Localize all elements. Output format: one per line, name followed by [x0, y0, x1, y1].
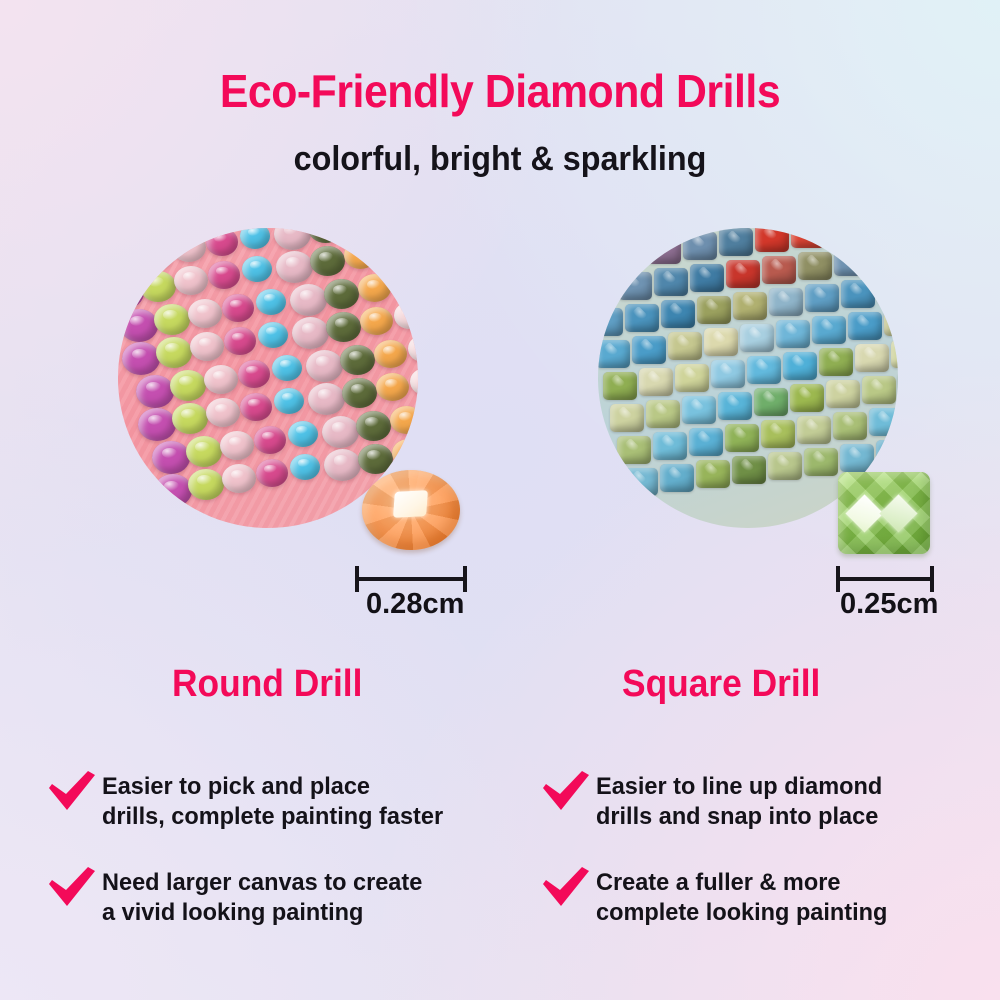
drill-bead — [174, 266, 208, 295]
drill-bead — [340, 345, 375, 375]
drill-bead — [240, 393, 272, 421]
benefit-item: Easier to line up diamonddrills and snap… — [540, 768, 1000, 840]
drill-bead — [292, 317, 329, 349]
ruler-cap-left — [355, 566, 359, 592]
benefit-text: Easier to pick and placedrills, complete… — [102, 768, 443, 832]
round-drill-benefits: Easier to pick and placedrills, complete… — [46, 768, 516, 960]
drill-tile — [682, 396, 716, 424]
drill-tile — [863, 228, 897, 240]
drill-tile — [870, 244, 898, 272]
drill-tile — [696, 460, 730, 488]
drill-tile — [598, 244, 609, 272]
drill-tile — [598, 340, 630, 368]
drill-tile — [654, 268, 688, 296]
drill-tile — [791, 228, 825, 248]
page-subtitle: colorful, bright & sparkling — [25, 140, 975, 179]
drill-tile — [646, 400, 680, 428]
drill-tile — [718, 392, 752, 420]
drill-tile — [647, 236, 681, 264]
drill-tile — [848, 312, 882, 340]
drill-tile — [855, 344, 889, 372]
drill-bead — [242, 256, 272, 282]
benefit-item: Need larger canvas to createa vivid look… — [46, 864, 516, 936]
drill-tile — [697, 296, 731, 324]
check-icon — [46, 866, 102, 910]
benefit-text: Easier to line up diamonddrills and snap… — [596, 768, 882, 832]
drill-bead — [306, 350, 343, 382]
check-icon — [540, 770, 596, 814]
drill-bead — [256, 289, 286, 315]
drill-tile — [862, 376, 896, 404]
drill-bead — [390, 406, 418, 434]
drill-bead — [138, 408, 176, 441]
drill-tile — [805, 284, 839, 312]
drill-tile — [604, 228, 638, 236]
drill-bead — [288, 421, 318, 447]
page-title: Eco-Friendly Diamond Drills — [35, 64, 965, 118]
drill-bead — [358, 444, 393, 474]
drill-tile — [640, 228, 674, 232]
check-icon — [540, 866, 596, 910]
drill-tile — [840, 444, 874, 472]
drill-tile — [618, 272, 652, 300]
drill-tile — [833, 412, 867, 440]
drill-tile — [690, 264, 724, 292]
drill-bead — [220, 431, 254, 460]
drill-tile — [877, 276, 898, 304]
drill-tile — [689, 428, 723, 456]
drill-tile — [660, 464, 694, 492]
drill-bead — [238, 360, 270, 388]
drill-bead — [356, 411, 391, 441]
drill-tile — [603, 372, 637, 400]
drill-tile — [768, 452, 802, 480]
drill-bead — [122, 342, 160, 375]
drill-tile — [704, 328, 738, 356]
benefit-item: Easier to pick and placedrills, complete… — [46, 768, 516, 840]
square-measurement-label: 0.25cm — [840, 588, 938, 621]
drill-tile — [819, 348, 853, 376]
drill-tile — [598, 308, 623, 336]
drill-tile — [725, 424, 759, 452]
drill-tile — [732, 456, 766, 484]
ruler-bar — [836, 577, 934, 581]
drill-bead — [222, 464, 256, 493]
drill-bead — [378, 236, 409, 263]
drill-bead — [222, 294, 254, 322]
drill-bead — [154, 304, 190, 335]
drill-tile — [798, 252, 832, 280]
drill-bead — [290, 284, 327, 316]
drill-tile — [876, 440, 898, 468]
square-drill-heading: Square Drill — [622, 663, 820, 706]
drill-bead — [208, 261, 240, 289]
drill-tile — [834, 248, 868, 276]
drill-bead — [170, 370, 206, 401]
drill-tile — [776, 320, 810, 348]
drill-tile — [804, 448, 838, 476]
drill-bead — [392, 269, 418, 296]
drill-bead — [154, 474, 192, 507]
benefit-text: Create a fuller & morecomplete looking p… — [596, 864, 887, 928]
drill-tile — [740, 324, 774, 352]
drill-tile — [754, 388, 788, 416]
drill-tile — [719, 228, 753, 256]
drill-bead — [322, 416, 359, 448]
drill-tile — [625, 304, 659, 332]
drill-tile — [653, 432, 687, 460]
drill-tile — [769, 288, 803, 316]
drill-tile — [624, 468, 658, 496]
drill-bead — [394, 302, 418, 329]
drill-tile — [726, 260, 760, 288]
drill-bead — [188, 469, 224, 500]
drill-bead — [204, 365, 238, 394]
drill-bead — [172, 403, 208, 434]
drill-bead — [190, 332, 224, 361]
drill-bead — [308, 383, 345, 415]
drill-tile — [826, 380, 860, 408]
drill-bead — [256, 459, 288, 487]
drill-tile — [668, 332, 702, 360]
drill-tile — [891, 340, 898, 368]
drill-bead — [276, 251, 313, 283]
drill-tile — [761, 420, 795, 448]
drill-tile — [611, 240, 645, 268]
drill-tile — [711, 360, 745, 388]
drill-bead — [120, 309, 158, 342]
drill-bead — [156, 337, 192, 368]
drill-bead — [272, 355, 302, 381]
benefit-item: Create a fuller & morecomplete looking p… — [540, 864, 1000, 936]
check-icon — [46, 770, 102, 814]
drill-tile — [884, 308, 898, 336]
drill-bead — [206, 228, 238, 256]
infographic-poster: Eco-Friendly Diamond Drills colorful, br… — [0, 0, 1000, 1000]
drill-bead — [136, 375, 174, 408]
round-drill-heading: Round Drill — [172, 663, 362, 706]
drill-bead — [254, 426, 286, 454]
drill-bead — [324, 449, 361, 481]
drill-tile — [869, 408, 898, 436]
ruler-bar — [355, 577, 467, 581]
drill-bead — [224, 327, 256, 355]
drill-tile — [790, 384, 824, 412]
square-drill-benefits: Easier to line up diamonddrills and snap… — [540, 768, 1000, 960]
drill-bead — [206, 398, 240, 427]
drill-bead — [186, 436, 222, 467]
benefit-text: Need larger canvas to createa vivid look… — [102, 864, 422, 928]
drill-bead — [258, 322, 288, 348]
orange-round-drill-sample — [362, 470, 460, 550]
drill-bead — [324, 279, 359, 309]
drill-tile — [755, 228, 789, 252]
drill-bead — [342, 378, 377, 408]
drill-tile — [632, 336, 666, 364]
drill-tile — [797, 416, 831, 444]
drill-tile — [733, 292, 767, 320]
drill-tile — [812, 316, 846, 344]
round-measurement-label: 0.28cm — [366, 588, 464, 621]
drill-tile — [762, 256, 796, 284]
drill-tile — [617, 436, 651, 464]
drill-bead — [310, 246, 345, 276]
drill-bead — [188, 299, 222, 328]
drill-tile — [661, 300, 695, 328]
drill-bead — [172, 233, 206, 262]
drill-tile — [639, 368, 673, 396]
round-table-facet-highlight — [393, 490, 428, 517]
drill-bead — [290, 454, 320, 480]
drill-tile — [675, 364, 709, 392]
drill-bead — [140, 271, 176, 302]
drill-bead — [152, 441, 190, 474]
drill-bead — [138, 238, 174, 269]
drill-bead — [326, 312, 361, 342]
drill-tile — [610, 404, 644, 432]
drill-tile — [841, 280, 875, 308]
drill-bead — [274, 388, 304, 414]
drill-tile — [747, 356, 781, 384]
green-square-drill-sample — [838, 472, 930, 554]
drill-tile — [683, 232, 717, 260]
drill-tile — [598, 276, 616, 304]
drill-tile — [827, 228, 861, 244]
drill-tile — [783, 352, 817, 380]
